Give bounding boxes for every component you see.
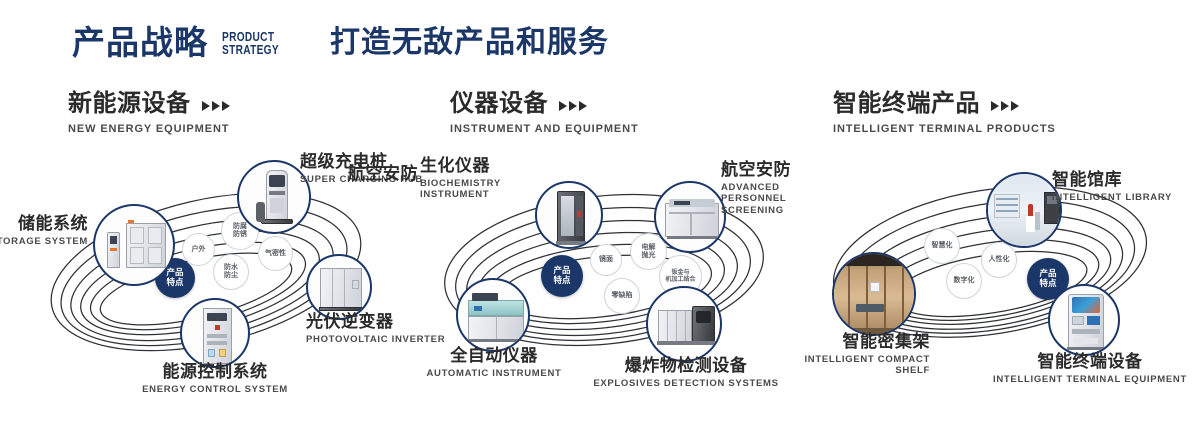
caption-en: EXPLOSIVES DETECTION SYSTEMS <box>590 378 782 390</box>
diagram-group-instrument: 产品 特点 镜面 电解抛光 零缺陷 钣金与机加工结合 航空安防 生化仪器 BIO… <box>396 150 816 410</box>
feature-bubble-humanized: 人性化 <box>981 242 1017 278</box>
page-title: 产品战略 <box>72 26 208 59</box>
section-title-new-energy: 新能源设备 NEW ENERGY EQUIPMENT <box>68 92 230 135</box>
node-intelligent-terminal-equipment[interactable] <box>1048 284 1120 356</box>
feature-bubble-zero-defect: 零缺陷 <box>604 278 640 314</box>
node-biochemistry-instrument[interactable] <box>535 181 603 249</box>
smart-library-room-image <box>988 174 1060 246</box>
feature-bubble-waterproof: 防水防尘 <box>213 254 249 290</box>
feature-bubble-digital: 数字化 <box>946 263 982 299</box>
biochemistry-analyzer-booth-image <box>537 183 601 247</box>
caption-cn: 储能系统 <box>0 214 88 234</box>
energy-control-rack-image <box>182 300 248 366</box>
section-2-title-cn: 仪器设备 <box>450 92 548 116</box>
node-automatic-instrument[interactable] <box>456 278 530 352</box>
page-header: 产品战略 PRODUCT STRATEGY <box>72 26 295 59</box>
diagram-group-new-energy: 产品 特点 户外 防腐防锈 防水防尘 气密性 储能系统 ENERGY S <box>0 150 420 410</box>
node-photovoltaic-inverter[interactable] <box>306 254 372 320</box>
section-2-title-en: INSTRUMENT AND EQUIPMENT <box>450 123 639 135</box>
core-bubble-product-features: 产品 特点 <box>541 255 583 297</box>
caption-cn: 能源控制系统 <box>105 362 325 382</box>
chevron-right-triple-icon <box>991 97 1019 111</box>
caption-cn: 生化仪器 <box>420 156 530 176</box>
automatic-lab-instrument-image <box>458 280 528 350</box>
caption-en: INTELLIGENT TERMINAL EQUIPMENT <box>990 374 1190 386</box>
node-advanced-personnel-screening[interactable] <box>654 181 726 253</box>
caption-automatic-instrument: 全自动仪器 AUTOMATIC INSTRUMENT <box>406 346 582 379</box>
caption-cn: 智能密集架 <box>770 332 930 352</box>
core-label-line2: 特点 <box>553 276 570 286</box>
chevron-right-triple-icon <box>202 97 230 111</box>
caption-cn: 爆炸物检测设备 <box>590 356 782 376</box>
node-intelligent-library[interactable] <box>986 172 1062 248</box>
feature-bubble-smart: 智慧化 <box>924 228 960 264</box>
self-service-kiosk-image <box>1050 286 1118 354</box>
node-explosives-detection[interactable] <box>646 286 722 362</box>
caption-en: INTELLIGENT COMPACT SHELF <box>770 354 930 378</box>
feature-bubble-mirror-finish: 镜面 <box>590 244 622 276</box>
caption-intelligent-compact-shelf: 智能密集架 INTELLIGENT COMPACT SHELF <box>770 332 930 377</box>
feature-bubble-outdoor: 户外 <box>182 233 215 266</box>
personnel-screening-scanner-image <box>656 183 724 251</box>
feature-bubble-airtight: 气密性 <box>258 236 293 271</box>
caption-cn: 智能终端设备 <box>990 352 1190 372</box>
caption-intelligent-terminal-equipment: 智能终端设备 INTELLIGENT TERMINAL EQUIPMENT <box>990 352 1190 385</box>
node-intelligent-compact-shelf[interactable] <box>832 252 916 336</box>
caption-en: AUTOMATIC INSTRUMENT <box>406 368 582 380</box>
explosives-detection-machine-image <box>648 288 720 360</box>
photovoltaic-inverter-cabinet-image <box>308 256 370 318</box>
caption-energy-control-system: 能源控制系统 ENERGY CONTROL SYSTEM <box>105 362 325 395</box>
node-energy-control-system[interactable] <box>180 298 250 368</box>
caption-intelligent-library: 智能馆库 INTELLIGENT LIBRARY <box>1052 170 1172 203</box>
section-3-title-en: INTELLIGENT TERMINAL PRODUCTS <box>833 123 1056 135</box>
node-energy-storage-system[interactable] <box>93 204 175 286</box>
battery-energy-storage-cabinet-image <box>95 206 173 284</box>
caption-cn: 智能馆库 <box>1052 170 1172 190</box>
section-1-title-en: NEW ENERGY EQUIPMENT <box>68 123 230 135</box>
caption-aviation-security-left: 航空安防 <box>318 164 418 184</box>
page-slogan: 打造无敌产品和服务 <box>330 28 609 58</box>
compact-mobile-shelving-image <box>834 254 914 334</box>
product-strategy-infographic: 产品战略 PRODUCT STRATEGY 打造无敌产品和服务 新能源设备 NE… <box>0 0 1200 422</box>
caption-en: INTELLIGENT LIBRARY <box>1052 192 1172 204</box>
caption-en: ENERGY STORAGE SYSTEM <box>0 236 88 248</box>
chevron-right-triple-icon <box>559 97 587 111</box>
ev-super-charging-pile-image <box>239 162 309 232</box>
caption-cn: 航空安防 <box>318 164 418 184</box>
caption-en: BIOCHEMISTRY INSTRUMENT <box>420 178 512 202</box>
diagram-group-intelligent-terminal: 智慧化 数字化 人性化 产品 特点 智能馆 <box>800 150 1200 410</box>
caption-cn: 全自动仪器 <box>406 346 582 366</box>
section-1-title-cn: 新能源设备 <box>68 92 191 116</box>
page-title-english: PRODUCT STRATEGY <box>222 30 279 60</box>
section-title-instrument: 仪器设备 INSTRUMENT AND EQUIPMENT <box>450 92 639 135</box>
caption-explosives-detection: 爆炸物检测设备 EXPLOSIVES DETECTION SYSTEMS <box>590 356 782 389</box>
page-title-english-line1: PRODUCT <box>222 30 279 43</box>
caption-en: ENERGY CONTROL SYSTEM <box>105 384 325 396</box>
caption-energy-storage-system: 储能系统 ENERGY STORAGE SYSTEM <box>0 214 88 247</box>
caption-biochemistry-instrument: 生化仪器 BIOCHEMISTRY INSTRUMENT <box>420 156 530 201</box>
section-3-title-cn: 智能终端产品 <box>833 92 980 116</box>
page-title-english-line2: STRATEGY <box>222 43 279 56</box>
section-title-intelligent-terminal: 智能终端产品 INTELLIGENT TERMINAL PRODUCTS <box>833 92 1056 135</box>
